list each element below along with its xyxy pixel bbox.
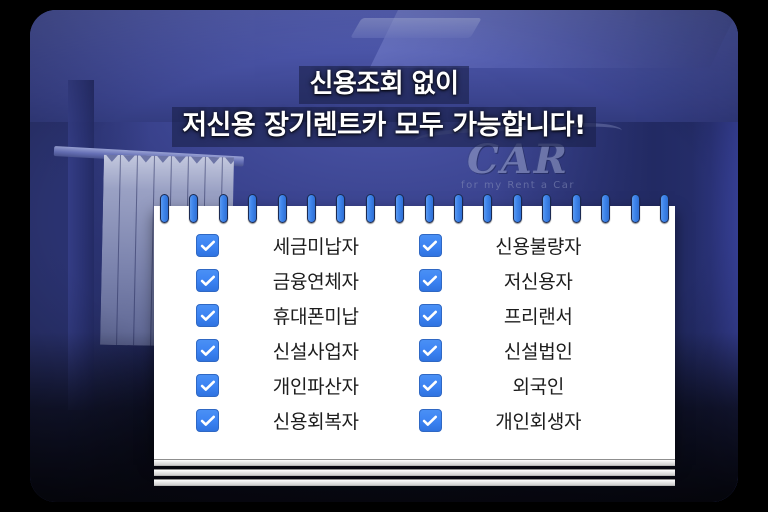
spiral-binding-ring bbox=[454, 194, 463, 223]
checkbox-checked-icon[interactable] bbox=[419, 234, 442, 257]
headline-block: 신용조회 없이 저신용 장기렌트카 모두 가능합니다! bbox=[30, 66, 738, 147]
checklist-item[interactable]: 개인회생자 bbox=[419, 403, 642, 438]
checklist-item[interactable]: 휴대폰미납 bbox=[196, 298, 419, 333]
checklist-item[interactable]: 세금미납자 bbox=[196, 228, 419, 263]
checklist-item[interactable]: 개인파산자 bbox=[196, 368, 419, 403]
checklist-item-label: 개인파산자 bbox=[219, 372, 419, 399]
spiral-binding-ring bbox=[219, 194, 228, 223]
spiral-binding bbox=[154, 194, 675, 224]
checklist-item-label: 신설법인 bbox=[442, 337, 642, 364]
checklist-item-label: 신설사업자 bbox=[219, 337, 419, 364]
checklist-item-label: 외국인 bbox=[442, 372, 642, 399]
checklist-item[interactable]: 신용불량자 bbox=[419, 228, 642, 263]
spiral-binding-ring bbox=[189, 194, 198, 223]
notepad-sheet: 세금미납자금융연체자휴대폰미납신설사업자개인파산자신용회복자 신용불량자저신용자… bbox=[154, 206, 675, 459]
checkbox-checked-icon[interactable] bbox=[419, 409, 442, 432]
headline-line-1: 신용조회 없이 bbox=[30, 66, 738, 104]
spiral-binding-ring bbox=[631, 194, 640, 223]
spiral-binding-ring bbox=[248, 194, 257, 223]
checkbox-checked-icon[interactable] bbox=[196, 269, 219, 292]
checklist-item-label: 프리랜서 bbox=[442, 302, 642, 329]
checklist-item-label: 개인회생자 bbox=[442, 407, 642, 434]
checklist-item[interactable]: 저신용자 bbox=[419, 263, 642, 298]
checklist-item[interactable]: 신설사업자 bbox=[196, 333, 419, 368]
spiral-binding-ring bbox=[601, 194, 610, 223]
page-edge bbox=[154, 479, 675, 486]
checklist-column-right: 신용불량자저신용자프리랜서신설법인외국인개인회생자 bbox=[419, 228, 642, 438]
checkbox-checked-icon[interactable] bbox=[419, 339, 442, 362]
checklist-item[interactable]: 외국인 bbox=[419, 368, 642, 403]
checklist-item[interactable]: 금융연체자 bbox=[196, 263, 419, 298]
spiral-binding-ring bbox=[660, 194, 669, 223]
checkbox-checked-icon[interactable] bbox=[419, 304, 442, 327]
spiral-binding-ring bbox=[278, 194, 287, 223]
page-edge bbox=[154, 469, 675, 476]
spiral-binding-ring bbox=[425, 194, 434, 223]
spiral-binding-ring bbox=[395, 194, 404, 223]
checklist-item-label: 신용불량자 bbox=[442, 232, 642, 259]
checkbox-checked-icon[interactable] bbox=[196, 304, 219, 327]
checkbox-checked-icon[interactable] bbox=[419, 374, 442, 397]
checkbox-checked-icon[interactable] bbox=[196, 339, 219, 362]
notepad-page-stack bbox=[154, 459, 675, 486]
checklist-item[interactable]: 신설법인 bbox=[419, 333, 642, 368]
spiral-binding-ring bbox=[542, 194, 551, 223]
checkbox-checked-icon[interactable] bbox=[196, 409, 219, 432]
page-edge bbox=[154, 459, 675, 466]
notepad: 세금미납자금융연체자휴대폰미납신설사업자개인파산자신용회복자 신용불량자저신용자… bbox=[154, 206, 675, 486]
checklist-column-left: 세금미납자금융연체자휴대폰미납신설사업자개인파산자신용회복자 bbox=[196, 228, 419, 438]
spiral-binding-ring bbox=[483, 194, 492, 223]
spiral-binding-ring bbox=[366, 194, 375, 223]
spiral-binding-ring bbox=[160, 194, 169, 223]
checklist: 세금미납자금융연체자휴대폰미납신설사업자개인파산자신용회복자 신용불량자저신용자… bbox=[154, 228, 675, 438]
checklist-item[interactable]: 프리랜서 bbox=[419, 298, 642, 333]
checkbox-checked-icon[interactable] bbox=[419, 269, 442, 292]
checklist-item-label: 휴대폰미납 bbox=[219, 302, 419, 329]
spiral-binding-ring bbox=[336, 194, 345, 223]
banner-image: CAR for my Rent a Car 신용조회 없이 저신용 장기렌트카 … bbox=[0, 0, 768, 512]
checklist-item-label: 저신용자 bbox=[442, 267, 642, 294]
spiral-binding-ring bbox=[307, 194, 316, 223]
spiral-binding-ring bbox=[513, 194, 522, 223]
spiral-binding-ring bbox=[572, 194, 581, 223]
headline-line-2: 저신용 장기렌트카 모두 가능합니다! bbox=[30, 107, 738, 147]
checklist-item-label: 세금미납자 bbox=[219, 232, 419, 259]
checklist-item-label: 신용회복자 bbox=[219, 407, 419, 434]
banner-frame: CAR for my Rent a Car 신용조회 없이 저신용 장기렌트카 … bbox=[30, 10, 738, 502]
checkbox-checked-icon[interactable] bbox=[196, 234, 219, 257]
checkbox-checked-icon[interactable] bbox=[196, 374, 219, 397]
checklist-item[interactable]: 신용회복자 bbox=[196, 403, 419, 438]
checklist-item-label: 금융연체자 bbox=[219, 267, 419, 294]
